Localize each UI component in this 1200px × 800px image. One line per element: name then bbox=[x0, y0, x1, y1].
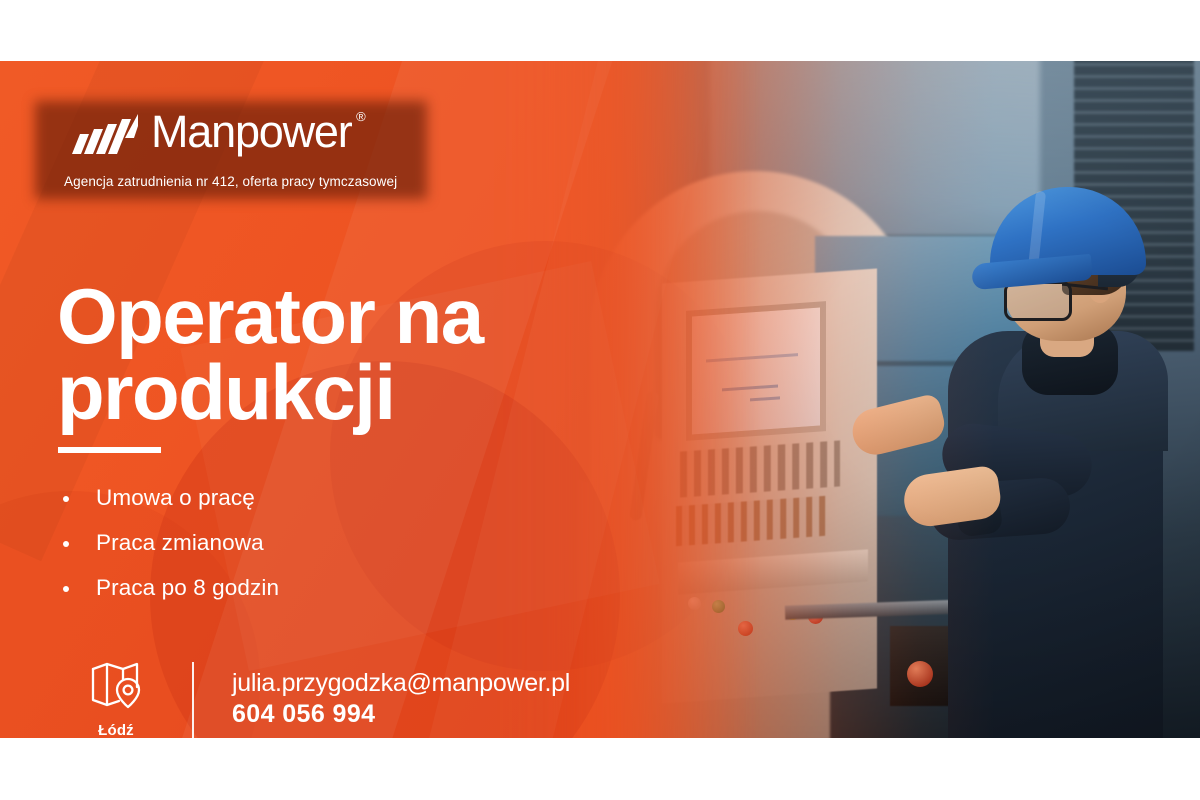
registered-trademark-icon: ® bbox=[356, 110, 364, 123]
list-item: Umowa o pracę bbox=[57, 485, 279, 511]
job-title-line-2: produkcji bbox=[57, 355, 577, 431]
list-item: Praca zmianowa bbox=[57, 530, 279, 556]
footer-divider bbox=[192, 662, 194, 738]
job-title-line-1: Operator na bbox=[57, 279, 577, 355]
contact-phone[interactable]: 604 056 994 bbox=[232, 699, 570, 730]
city-label: Łódź bbox=[78, 722, 154, 738]
agency-disclaimer: Agencja zatrudnienia nr 412, oferta prac… bbox=[64, 174, 397, 189]
manpower-bars-logo-icon bbox=[72, 114, 138, 154]
poster-canvas: Manpower ® Agencja zatrudnienia nr 412, … bbox=[0, 0, 1200, 800]
brand-name: Manpower bbox=[151, 106, 352, 157]
location-block: Łódź bbox=[78, 660, 154, 738]
job-ad-banner: Manpower ® Agencja zatrudnienia nr 412, … bbox=[0, 61, 1200, 738]
map-pin-icon bbox=[90, 660, 142, 710]
list-item: Praca po 8 godzin bbox=[57, 575, 279, 601]
benefits-list: Umowa o pracę Praca zmianowa Praca po 8 … bbox=[57, 485, 279, 601]
title-underline-rule bbox=[58, 447, 161, 453]
contact-block: julia.przygodzka@manpower.pl 604 056 994 bbox=[232, 669, 570, 730]
brand-logo: Manpower ® bbox=[72, 109, 352, 154]
page-title: Operator na produkcji bbox=[57, 279, 577, 430]
contact-email[interactable]: julia.przygodzka@manpower.pl bbox=[232, 669, 570, 699]
brand-wordmark: Manpower ® bbox=[151, 109, 352, 154]
